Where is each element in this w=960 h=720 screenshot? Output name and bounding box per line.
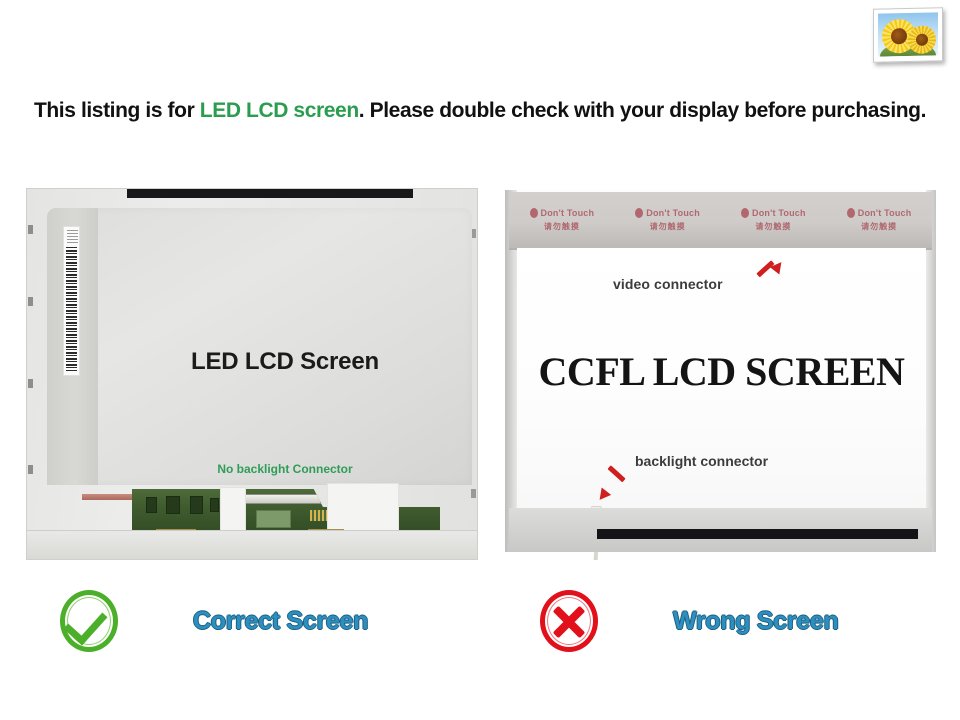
verdict-correct-label: Correct Screen [193,607,368,636]
backlight-connector-arrow-icon [596,474,626,504]
warning-dot-icon [741,208,749,218]
led-overlay-note: No backlight Connector [98,462,472,476]
sunflower-photo-icon [873,8,943,62]
check-circle-icon [60,590,118,652]
led-left-notch [28,379,33,388]
ccfl-warning-band: Don't Touch 请勿触摸 Don't Touch 请勿触摸 Don't … [509,192,932,250]
verdict-correct-screen: Correct Screen [60,590,368,652]
led-overlay-title: LED LCD Screen [98,348,472,376]
ccfl-lcd-screen-photo: Don't Touch 请勿触摸 Don't Touch 请勿触摸 Don't … [505,182,936,560]
dont-touch-label: Don't Touch 请勿触摸 [530,208,595,232]
verdict-wrong-screen: Wrong Screen [540,590,838,652]
verdict-wrong-label: Wrong Screen [673,607,838,636]
ccfl-panel-body: Don't Touch 请勿触摸 Don't Touch 请勿触摸 Don't … [505,190,936,552]
cross-circle-icon [540,590,598,652]
led-display-surface: LED LCD Screen No backlight Connector [47,208,472,485]
warning-dot-icon [635,208,643,218]
headline-highlight: LED LCD screen [200,99,359,122]
sunflower-bloom-primary [878,12,938,13]
warning-dot-icon [530,208,538,218]
headline-before: This listing is for [34,99,200,122]
warning-dot-icon [847,208,855,218]
led-left-notch [28,225,33,234]
ccfl-video-connector-label: video connector [613,276,723,292]
led-pcb-sticker [220,487,246,535]
led-left-notch [28,465,33,474]
thumbnail-photo [878,12,938,56]
led-lcd-screen-photo: LED LCD Screen No backlight Connector [26,182,478,566]
sunflower-bloom-secondary [878,12,938,13]
ccfl-backlight-connector-label: backlight connector [635,453,768,469]
dont-touch-label: Don't Touch 请勿触摸 [741,208,806,232]
led-flex-cable [82,494,134,500]
barcode-sticker [63,226,80,376]
led-left-gray-strip [47,208,98,485]
dont-touch-label: Don't Touch 请勿触摸 [635,208,700,232]
ccfl-overlay-title: CCFL LCD SCREEN [517,348,926,395]
led-left-notch [28,297,33,306]
dont-touch-label: Don't Touch 请勿触摸 [847,208,912,232]
led-top-dark-strip [127,189,413,198]
led-bottom-rail [27,530,477,559]
ccfl-bottom-dark-strip [597,529,918,539]
led-video-connector [235,494,321,504]
led-right-notch [471,489,476,498]
video-connector-arrow-icon [755,262,781,288]
headline-text: This listing is for LED LCD screen. Plea… [0,99,960,123]
headline-after: . Please double check with your display … [359,99,926,122]
led-panel-bezel: LED LCD Screen No backlight Connector [26,188,478,560]
ccfl-display-surface: video connector CCFL LCD SCREEN backligh… [517,248,926,508]
